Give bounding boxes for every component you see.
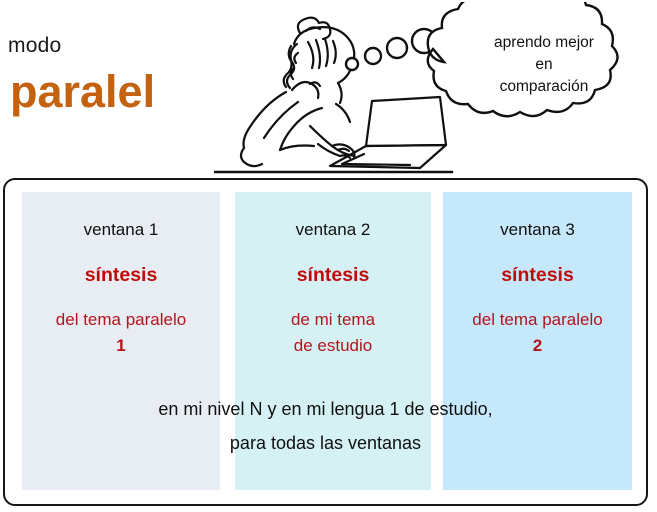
window-1-detail-line-2: 1 [22,333,220,359]
diagram-canvas: modo paralel [0,0,657,512]
thought-bubble-line-2: en [455,54,633,76]
window-2-detail: de mi tema de estudio [235,307,431,359]
window-2-label: ventana 2 [235,220,431,240]
window-1-detail-line-1: del tema paralelo [22,307,220,333]
thought-bubble-text: aprendo mejor en comparación [455,32,633,98]
window-3-detail-line-2: 2 [443,333,632,359]
thought-bubble-line-1: aprendo mejor [455,32,633,54]
window-2-heading: síntesis [235,264,431,287]
window-3-detail: del tema paralelo 2 [443,307,632,359]
window-column-1[interactable]: ventana 1 síntesis del tema paralelo 1 [22,192,220,490]
window-2-detail-line-2: de estudio [235,333,431,359]
window-3-label: ventana 3 [443,220,632,240]
window-1-label: ventana 1 [22,220,220,240]
window-3-heading: síntesis [443,264,632,287]
window-column-2[interactable]: ventana 2 síntesis de mi tema de estudio [235,192,431,490]
window-3-detail-line-1: del tema paralelo [443,307,632,333]
window-column-3[interactable]: ventana 3 síntesis del tema paralelo 2 [443,192,632,490]
window-1-heading: síntesis [22,264,220,287]
window-1-detail: del tema paralelo 1 [22,307,220,359]
mode-title: paralel [10,66,155,118]
windows-columns: ventana 1 síntesis del tema paralelo 1 v… [22,192,632,490]
thought-bubble-line-3: comparación [455,76,633,98]
window-2-detail-line-1: de mi tema [235,307,431,333]
mode-kicker-label: modo [8,34,61,58]
